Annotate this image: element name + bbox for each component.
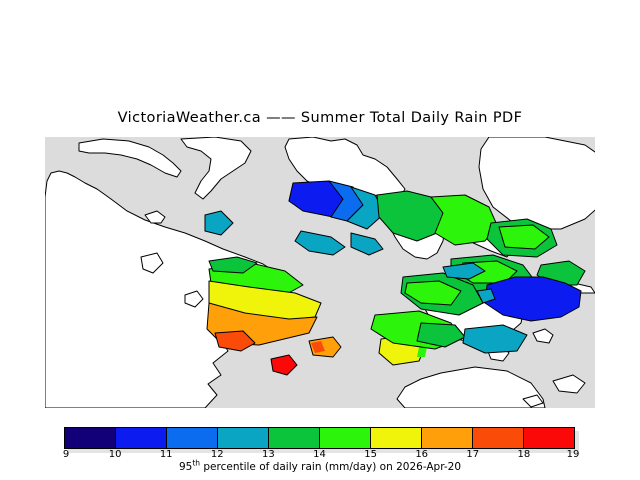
colorbar-caption-superscript: th — [192, 459, 200, 468]
region-strait-islet-teal — [295, 231, 345, 255]
coastline-central-north-landmass — [479, 137, 595, 229]
coastline-northwest-spit — [79, 139, 181, 177]
coastline-islet-small-a — [533, 329, 553, 343]
colorbar-band-16-17 — [422, 428, 473, 448]
colorbar-tick-18: 18 — [518, 449, 531, 460]
colorbar-tick-10: 10 — [109, 449, 122, 460]
colorbar-band-9-10 — [65, 428, 116, 448]
map-panel — [45, 137, 595, 408]
coastline-south-mainland — [397, 367, 545, 408]
colorbar-band-12-13 — [218, 428, 269, 448]
region-east-island-teal-lower — [463, 325, 527, 353]
colorbar-band-14-15 — [320, 428, 371, 448]
colorbar-band-10-11 — [116, 428, 167, 448]
coastline-northwest-lobe — [181, 137, 251, 199]
colorbar-tick-14: 14 — [313, 449, 326, 460]
colorbar-tick-15: 15 — [364, 449, 377, 460]
colorbar-tick-13: 13 — [262, 449, 275, 460]
colorbar-band-15-16 — [371, 428, 422, 448]
colorbar-tick-16: 16 — [415, 449, 428, 460]
colorbar-band-13-14 — [269, 428, 320, 448]
colorbar — [64, 427, 575, 449]
colorbar-caption: 95th percentile of daily rain (mm/day) o… — [0, 461, 640, 473]
colorbar-caption-prefix: 95 — [179, 461, 192, 473]
colorbar-tick-12: 12 — [211, 449, 224, 460]
colorbar-tick-11: 11 — [160, 449, 173, 460]
map-canvas — [45, 137, 595, 408]
page-title: VictoriaWeather.ca —— Summer Total Daily… — [0, 110, 640, 126]
region-small-island-red — [271, 355, 297, 375]
region-west-teal-band — [205, 211, 233, 235]
colorbar-tick-9: 9 — [63, 449, 69, 460]
weather-map-page: VictoriaWeather.ca —— Summer Total Daily… — [0, 0, 640, 480]
colorbar-container — [64, 427, 575, 449]
colorbar-tick-17: 17 — [466, 449, 479, 460]
colorbar-caption-rest: percentile of daily rain (mm/day) on 202… — [200, 461, 461, 473]
coastline-islet-arrow-south — [553, 375, 585, 393]
colorbar-band-17-18 — [473, 428, 524, 448]
colorbar-band-18-19 — [524, 428, 574, 448]
colorbar-band-11-12 — [167, 428, 218, 448]
colorbar-tick-19: 19 — [567, 449, 580, 460]
region-strait-islet-teal-b — [351, 233, 383, 255]
